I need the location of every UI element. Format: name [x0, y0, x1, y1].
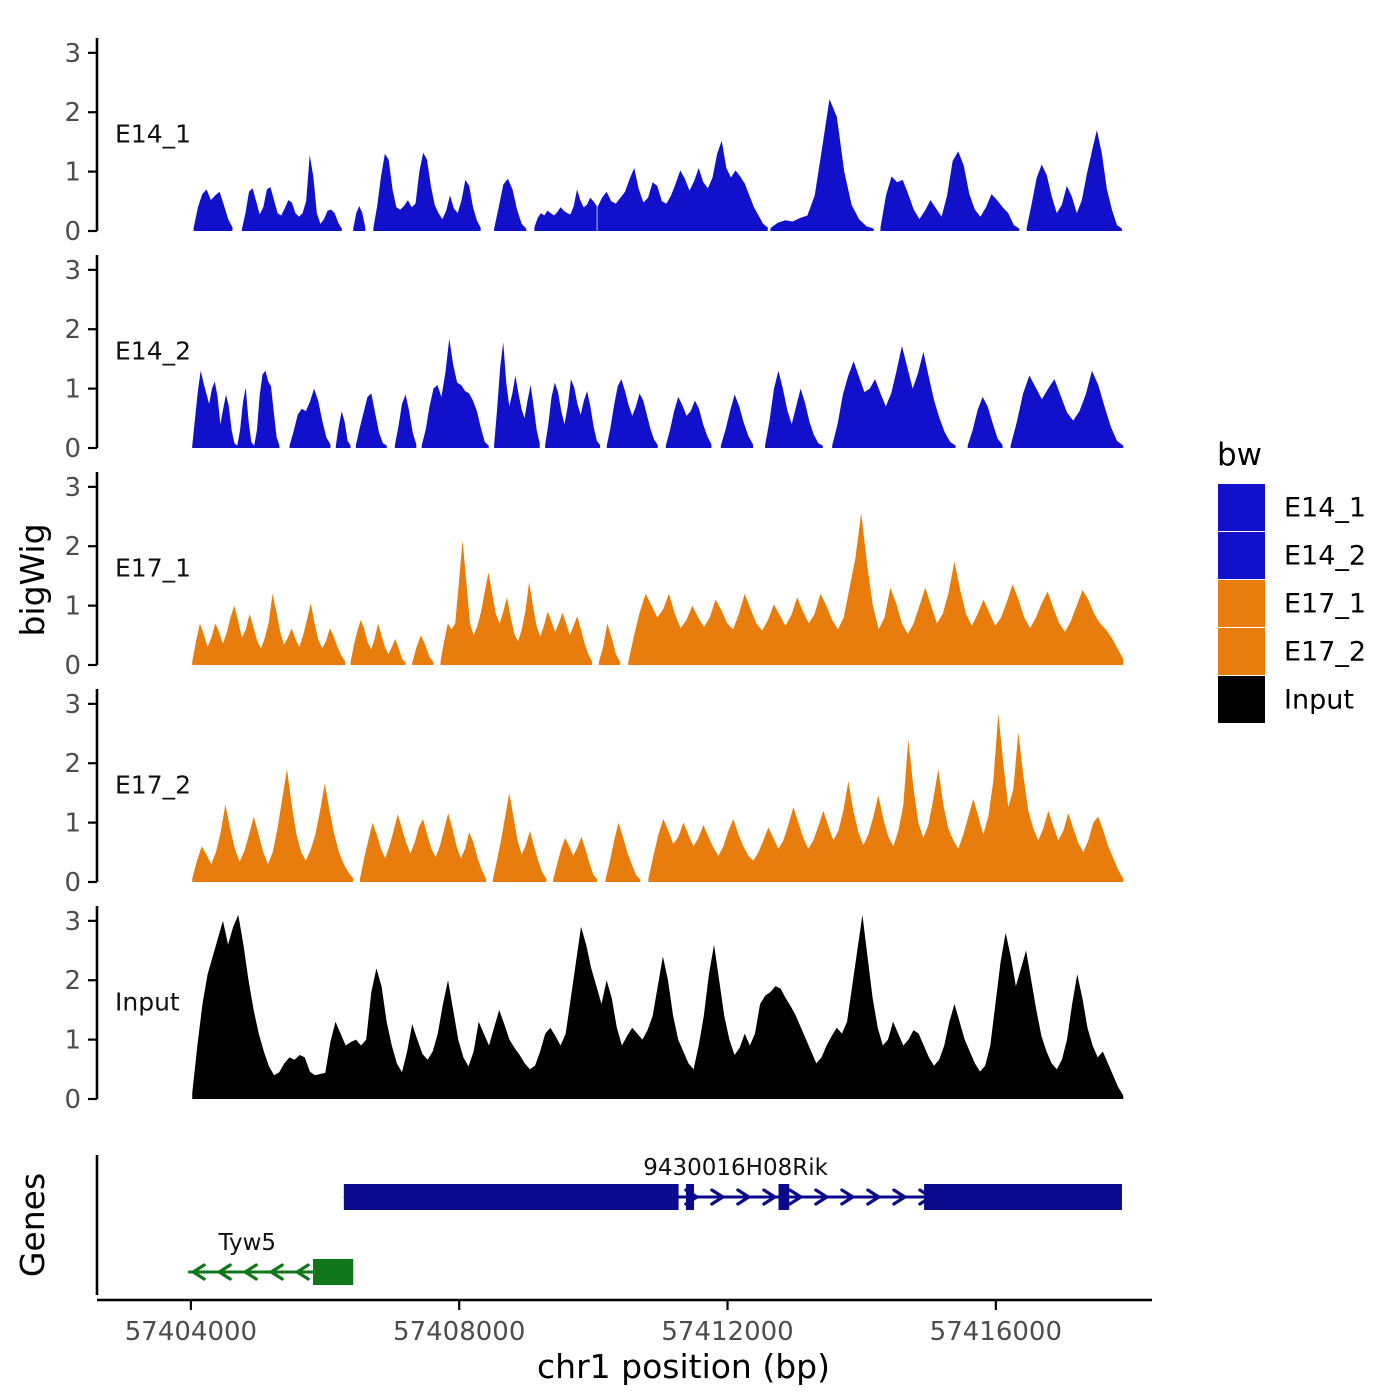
legend-label-e17_1: E17_1 [1284, 589, 1366, 620]
y-tick-label: 3 [64, 256, 81, 286]
y-tick-label: 2 [64, 315, 81, 345]
y-tick-label: 2 [64, 98, 81, 128]
x-tick-label: 57412000 [661, 1317, 793, 1347]
legend-swatch-input [1218, 676, 1265, 723]
x-tick-label: 57416000 [930, 1317, 1062, 1347]
gene-exon [313, 1259, 353, 1285]
gene-name-label: 9430016H08Rik [643, 1155, 828, 1181]
track-label-e14_2: E14_2 [115, 337, 191, 366]
legend-title: bw [1217, 437, 1262, 473]
track-label-e17_2: E17_2 [115, 771, 191, 800]
legend-swatch-e17_2 [1218, 628, 1265, 675]
y-tick-label: 3 [64, 39, 81, 69]
x-axis-title: chr1 position (bp) [537, 1347, 830, 1386]
track-label-input: Input [115, 988, 180, 1017]
figure-root: 0123E14_10123E14_20123E17_10123E17_20123… [0, 0, 1400, 1400]
y-tick-label: 0 [64, 217, 81, 247]
y-tick-label: 1 [64, 1026, 81, 1056]
legend-label-e17_2: E17_2 [1284, 637, 1366, 668]
legend-swatch-e17_1 [1218, 580, 1265, 627]
y-tick-label: 3 [64, 690, 81, 720]
y-tick-label: 1 [64, 809, 81, 839]
y-tick-label: 3 [64, 473, 81, 503]
y-tick-label: 0 [64, 868, 81, 898]
legend-label-input: Input [1284, 685, 1354, 716]
legend-swatch-e14_2 [1218, 532, 1265, 579]
genome-browser-figure: 0123E14_10123E14_20123E17_10123E17_20123… [0, 0, 1400, 1400]
legend-label-e14_2: E14_2 [1284, 541, 1366, 572]
legend-label-e14_1: E14_1 [1284, 493, 1366, 524]
y-tick-label: 1 [64, 592, 81, 622]
y-tick-label: 2 [64, 749, 81, 779]
gene-exon [924, 1184, 1122, 1210]
y-axis-title: bigWig [13, 523, 52, 636]
gene-exon [686, 1184, 694, 1210]
y-tick-label: 0 [64, 1085, 81, 1115]
x-tick-label: 57404000 [125, 1317, 257, 1347]
x-tick-label: 57408000 [393, 1317, 525, 1347]
y-tick-label: 3 [64, 907, 81, 937]
genes-axis-title: Genes [13, 1173, 52, 1277]
y-tick-label: 1 [64, 158, 81, 188]
y-tick-label: 2 [64, 532, 81, 562]
y-tick-label: 0 [64, 651, 81, 681]
gene-exon [344, 1184, 673, 1210]
track-label-e14_1: E14_1 [115, 120, 191, 149]
y-tick-label: 2 [64, 966, 81, 996]
track-label-e17_1: E17_1 [115, 554, 191, 583]
y-tick-label: 1 [64, 375, 81, 405]
gene-exon [673, 1184, 679, 1210]
gene-name-label: Tyw5 [217, 1230, 276, 1256]
gene-exon [779, 1184, 790, 1210]
y-tick-label: 0 [64, 434, 81, 464]
legend-swatch-e14_1 [1218, 484, 1265, 531]
